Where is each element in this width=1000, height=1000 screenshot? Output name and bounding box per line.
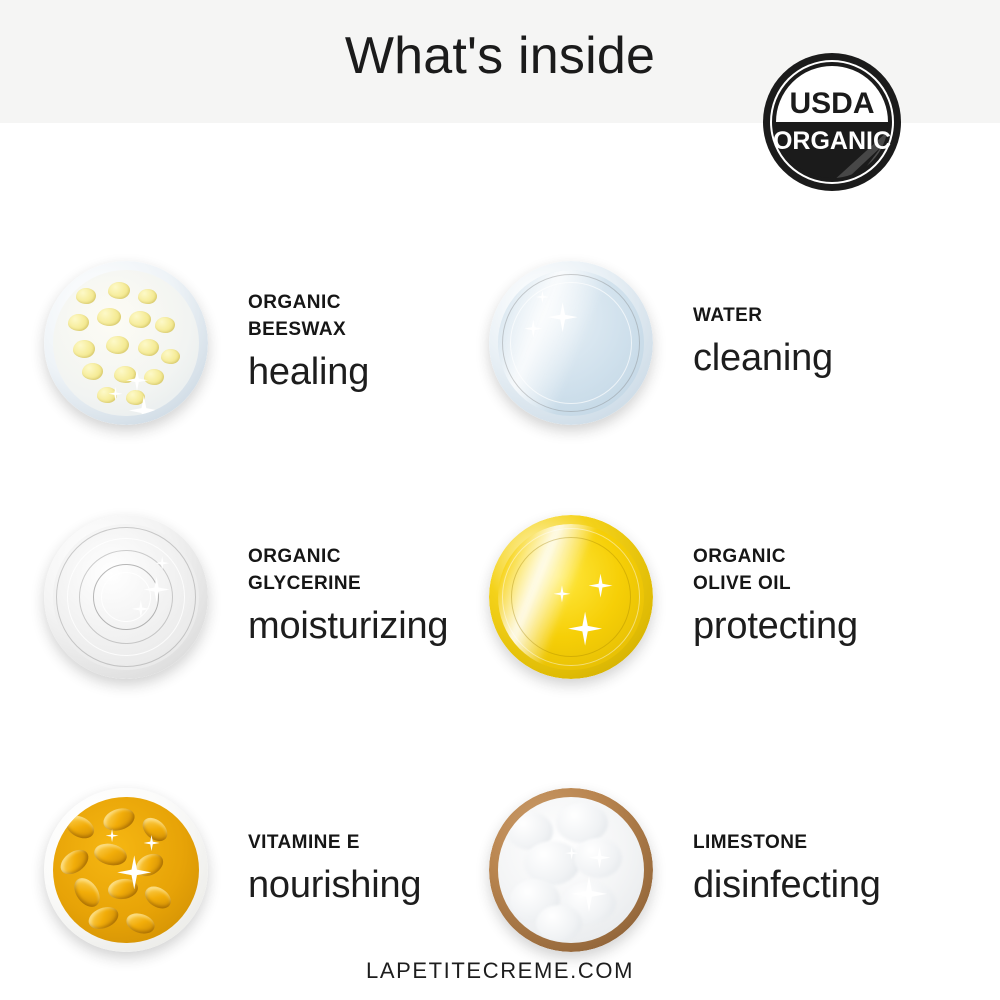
ingredient-benefit: disinfecting: [693, 865, 953, 907]
ingredient-benefit: protecting: [693, 606, 953, 648]
footer-website: LAPETITECREME.COM: [0, 958, 1000, 984]
ingredient-name: ORGANIC GLYCERINE: [248, 543, 508, 598]
ingredient-name: LIMESTONE: [693, 829, 953, 857]
ingredient-item-water: WATER cleaning: [483, 218, 953, 468]
ingredient-benefit: healing: [248, 352, 508, 394]
ingredient-item-olive-oil: ORGANIC OLIVE OIL protecting: [483, 472, 953, 722]
usda-organic-seal: USDA ORGANIC: [761, 51, 903, 193]
ingredient-name: WATER: [693, 302, 953, 330]
ingredient-benefit: nourishing: [248, 865, 508, 907]
limestone-bowl-image: [483, 782, 659, 958]
ingredient-name: ORGANIC BEESWAX: [248, 289, 508, 344]
vitamin-e-bowl-image: [38, 782, 214, 958]
ingredient-benefit: moisturizing: [248, 606, 508, 648]
ingredient-item-beeswax: ORGANIC BEESWAX healing: [38, 218, 508, 468]
ingredient-benefit: cleaning: [693, 338, 953, 380]
ingredient-name: VITAMINE E: [248, 829, 508, 857]
usda-seal-bottom-text: ORGANIC: [773, 127, 891, 155]
ingredient-name: ORGANIC OLIVE OIL: [693, 543, 953, 598]
ingredients-grid: ORGANIC BEESWAX healing WATER cleaning: [0, 200, 1000, 940]
beeswax-bowl-image: [38, 255, 214, 431]
water-bowl-image: [483, 255, 659, 431]
usda-seal-top-text: USDA: [789, 87, 874, 120]
ingredient-item-glycerine: ORGANIC GLYCERINE moisturizing: [38, 472, 508, 722]
glycerine-bowl-image: [38, 509, 214, 685]
olive-oil-bowl-image: [483, 509, 659, 685]
